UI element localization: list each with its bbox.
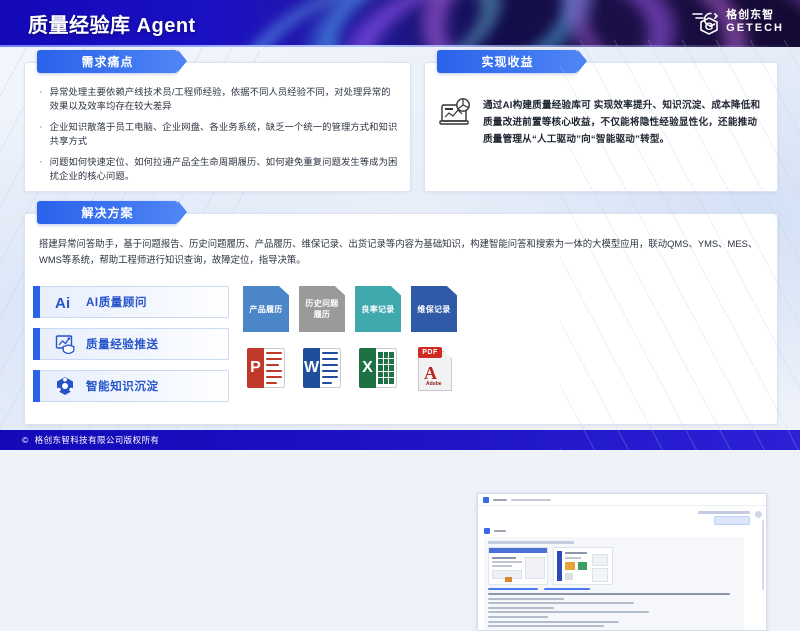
doc-card-label: 产品履历 [246,304,285,315]
accent-bar [33,286,40,318]
logo-text-cn: 格创东智 [726,10,784,21]
answer-thumbnails [488,547,740,585]
benefits-panel: 实现收益 通过AI构建质量经验库可 实现效率提升、知识沉淀、成本降低和质量改进前… [424,62,778,192]
solution-description: 搭建异常问答助手，基于问题报告、历史问题履历、产品履历、维保记录、出货记录等内容… [39,236,763,268]
doc-card-label: 维保记录 [414,304,453,315]
svg-text:A: A [55,295,66,311]
slide-header: 质量经验库 Agent G 格创东智 GETECH [0,0,800,47]
toolbar-text-placeholder [493,499,507,501]
svg-text:G: G [705,21,714,33]
user-message-bubble [698,511,750,525]
screenshot-toolbar [478,494,766,506]
answer-paragraph [488,593,740,631]
copyright-symbol-icon: © [22,435,29,445]
screenshot-chat-body [478,506,766,631]
feature-label: AI质量顾问 [86,294,147,310]
knowledge-cube-icon [54,375,76,397]
feature-quality-experience-push[interactable]: 质量经验推送 [33,328,229,360]
doc-card-product-history: 产品履历 [243,286,289,332]
logo-text-en: GETECH [726,23,784,34]
feature-ai-quality-advisor[interactable]: A i AI质量顾问 [33,286,229,318]
doc-card-yield-record: 良率记录 [355,286,401,332]
excel-icon: X [355,346,401,390]
slide-root: 质量经验库 Agent G 格创东智 GETECH [0,0,800,450]
powerpoint-icon: P [243,346,289,390]
avatar [755,511,762,518]
accent-bar [33,370,40,402]
assistant-answer-card [484,537,744,631]
chart-shield-icon [54,333,76,355]
thumbnail-image[interactable] [488,547,548,585]
bullet-dot-icon: · [39,120,43,148]
brand-logo: G 格创东智 GETECH [690,7,784,37]
thumbnail-image[interactable] [553,547,613,585]
pain-points-badge: 需求痛点 [37,50,178,73]
doc-card-label: 历史问题履历 [299,298,345,320]
feature-label: 智能知识沉淀 [86,378,159,394]
source-link[interactable] [544,588,590,591]
answer-source-links [488,588,740,591]
pdf-icon: PDF A Adobe [411,346,457,390]
svg-text:i: i [66,295,70,311]
list-item: · 问题如何快速定位、如何拉通产品全生命周期履历、如何避免重复问题发生等成为困扰… [39,155,398,183]
word-icon: W [299,346,345,390]
pain-bullet-text: 企业知识散落于员工电脑、企业网盘、各业务系统，缺乏一个统一的管理方式和知识共享方… [50,120,398,148]
assistant-avatar-icon [484,528,490,534]
app-screenshot-preview[interactable] [477,493,767,631]
scrollbar[interactable] [762,520,764,590]
solution-badge: 解决方案 [37,201,178,224]
pain-points-list: · 异常处理主要依赖产线技术员/工程师经验，依据不同人员经验不同，对处理异常的效… [39,85,398,190]
toolbar-text-placeholder [511,499,551,501]
file-type-icons: P W [243,346,457,390]
ai-icon: A i [54,291,76,313]
pdf-adobe-label: Adobe [426,381,442,387]
bullet-dot-icon: · [39,85,43,113]
pdf-tag-label: PDF [418,347,442,358]
benefits-text: 通过AI构建质量经验库可 实现效率提升、知识沉淀、成本降低和质量改进前置等核心收… [483,97,763,148]
doc-card-label: 良率记录 [358,304,397,315]
pain-points-panel: 需求痛点 · 异常处理主要依赖产线技术员/工程师经验，依据不同人员经验不同，对处… [24,62,411,192]
feature-label: 质量经验推送 [86,336,159,352]
powerpoint-letter: P [247,348,264,388]
list-item: · 异常处理主要依赖产线技术员/工程师经验，依据不同人员经验不同，对处理异常的效… [39,85,398,113]
list-item: · 企业知识散落于员工电脑、企业网盘、各业务系统，缺乏一个统一的管理方式和知识共… [39,120,398,148]
pain-bullet-text: 问题如何快速定位、如何拉通产品全生命周期履历、如何避免重复问题发生等成为困扰企业… [50,155,398,183]
source-link[interactable] [488,588,538,591]
feature-intelligent-knowledge-precipitation[interactable]: 智能知识沉淀 [33,370,229,402]
bullet-dot-icon: · [39,155,43,183]
excel-letter: X [359,348,376,388]
app-logo-icon [483,497,489,503]
pain-bullet-text: 异常处理主要依赖产线技术员/工程师经验，依据不同人员经验不同，对处理异常的效果以… [50,85,398,113]
getech-g-logo-icon: G [690,7,720,37]
accent-bar [33,328,40,360]
doc-card-maintenance-record: 维保记录 [411,286,457,332]
solution-panel: 解决方案 搭建异常问答助手，基于问题报告、历史问题履历、产品履历、维保记录、出货… [24,213,778,425]
doc-card-historical-issue-history: 历史问题履历 [299,286,345,332]
footer-copyright-text: 格创东智科技有限公司版权所有 [35,434,160,446]
header-underline [0,45,800,47]
benefits-badge: 实现收益 [437,50,578,73]
page-title: 质量经验库 Agent [28,9,196,38]
word-letter: W [303,348,320,388]
slide-footer: © 格创东智科技有限公司版权所有 [0,430,800,450]
assistant-message [484,528,744,631]
knowledge-source-cards: 产品履历 历史问题履历 良率记录 维保记录 [243,286,457,332]
feature-button-list: A i AI质量顾问 质量经验推送 [33,286,229,412]
laptop-chart-icon [439,97,473,136]
